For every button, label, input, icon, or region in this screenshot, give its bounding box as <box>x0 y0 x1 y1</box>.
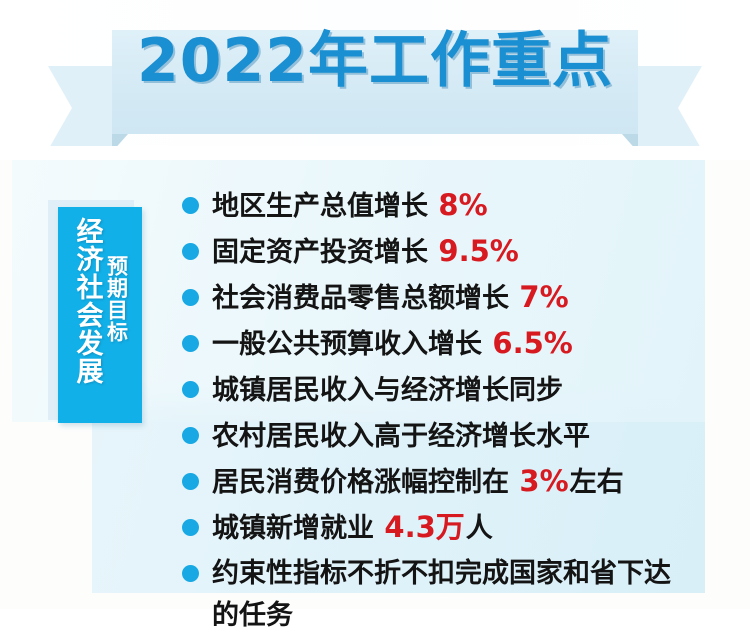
list-item: 农村居民收入高于经济增长水平 <box>180 416 700 456</box>
item-text-before: 农村居民收入高于经济增长水平 <box>212 421 590 452</box>
list-item: 地区生产总值增长 8% <box>180 186 700 226</box>
list-item: 社会消费品零售总额增长 7% <box>180 278 700 318</box>
list-item: 固定资产投资增长 9.5% <box>180 232 700 272</box>
item-text-before: 地区生产总值增长 <box>212 191 437 222</box>
item-highlight-value: 7% <box>518 280 569 314</box>
item-highlight-value: 3% <box>518 464 569 498</box>
title-banner: 2022年工作重点 <box>0 0 750 160</box>
item-text-after: 人 <box>466 513 493 544</box>
side-label-box: 预期目标 经济社会发展 <box>58 207 142 423</box>
item-highlight-value: 4.3万 <box>383 510 465 544</box>
side-label-sub: 预期目标 <box>105 255 129 343</box>
bullet-dot-icon <box>182 519 199 536</box>
bullet-dot-icon <box>182 473 199 490</box>
page-title: 2022年工作重点 <box>0 24 750 98</box>
list-item: 约束性指标不折不扣完成国家和省下达的任务 <box>180 554 682 636</box>
item-highlight-value: 6.5% <box>491 326 573 360</box>
list-item: 城镇居民收入与经济增长同步 <box>180 370 700 410</box>
goals-list: 地区生产总值增长 8% 固定资产投资增长 9.5% 社会消费品零售总额增长 7%… <box>180 186 700 642</box>
item-highlight-value: 8% <box>437 188 488 222</box>
item-text-before: 居民消费价格涨幅控制在 <box>212 467 518 498</box>
bullet-dot-icon <box>182 243 199 260</box>
item-text-before: 一般公共预算收入增长 <box>212 329 491 360</box>
item-text-before: 固定资产投资增长 <box>212 237 437 268</box>
item-highlight-value <box>590 418 592 452</box>
list-item: 居民消费价格涨幅控制在 3%左右 <box>180 462 700 502</box>
item-text-before: 城镇新增就业 <box>212 513 383 544</box>
item-highlight-value: 9.5% <box>437 234 519 268</box>
side-label-main: 经济社会发展 <box>72 217 102 385</box>
item-highlight-value <box>293 597 295 631</box>
list-item: 城镇新增就业 4.3万人 <box>180 508 700 548</box>
item-text-after: 左右 <box>570 467 624 498</box>
bullet-dot-icon <box>182 381 199 398</box>
infographic-root: 2022年工作重点 预期目标 经济社会发展 地区生产总值增长 8% 固定资产投资… <box>0 0 750 609</box>
bullet-dot-icon <box>182 289 199 306</box>
item-text-before: 城镇居民收入与经济增长同步 <box>212 375 563 406</box>
item-text-before: 约束性指标不折不扣完成国家和省下达的任务 <box>212 558 671 631</box>
bullet-dot-icon <box>182 565 199 582</box>
item-text-before: 社会消费品零售总额增长 <box>212 283 518 314</box>
item-highlight-value <box>563 372 565 406</box>
list-item: 一般公共预算收入增长 6.5% <box>180 324 700 364</box>
bullet-dot-icon <box>182 335 199 352</box>
bullet-dot-icon <box>182 427 199 444</box>
bullet-dot-icon <box>182 197 199 214</box>
